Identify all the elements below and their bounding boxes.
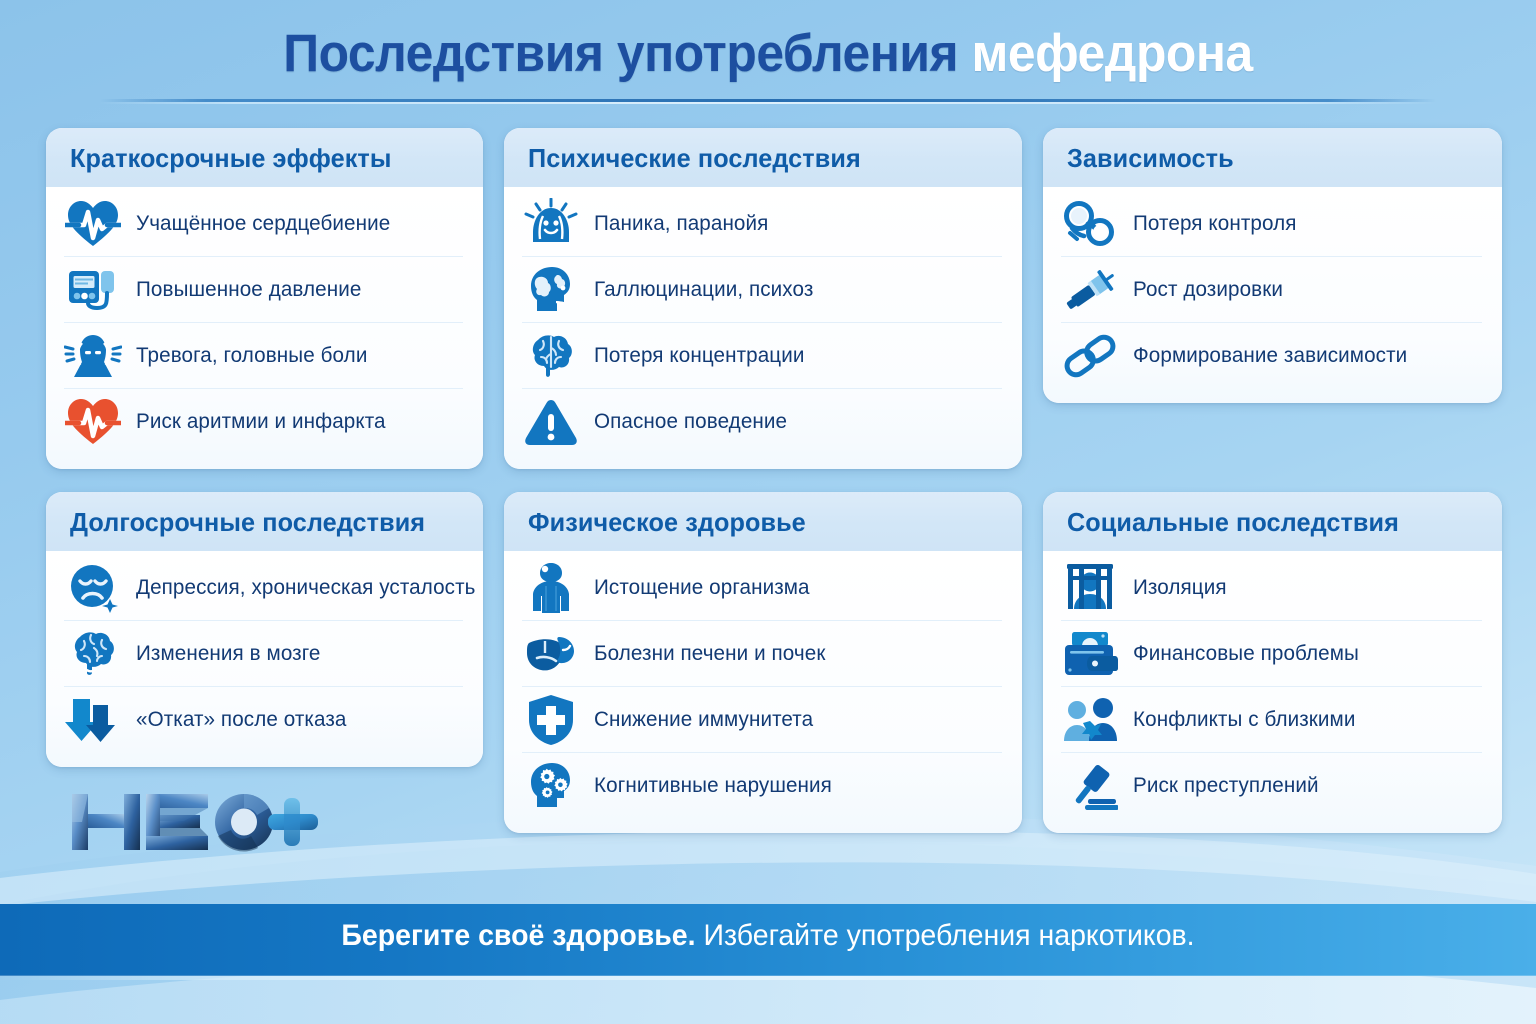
warning-triangle-icon [522,393,580,451]
card-body: Депрессия, хроническая усталость Изменен… [46,551,483,767]
list-item[interactable]: Изоляция [1061,555,1482,621]
page-title-light: мефедрона [971,24,1252,83]
list-item-label: Финансовые проблемы [1133,641,1359,667]
card-header: Социальные последствия [1043,492,1502,551]
list-item-label: Тревога, головные боли [136,343,367,369]
panic-ghost-icon [522,195,580,253]
card-title: Психические последствия [528,143,861,174]
list-item[interactable]: Депрессия, хроническая усталость [64,555,463,621]
list-item-label: Учащённое сердцебиение [136,211,390,237]
shield-cross-icon [522,691,580,749]
card-title: Социальные последствия [1067,507,1399,538]
prison-bars-icon [1061,559,1119,617]
list-item-label: Галлюцинации, психоз [594,277,813,303]
thin-person-icon [522,559,580,617]
list-item-label: Риск преступлений [1133,773,1319,799]
card-body: Изоляция [1043,551,1502,833]
list-item[interactable]: Рост дозировки [1061,257,1482,323]
card-title: Краткосрочные эффекты [70,143,392,174]
conflict-people-icon [1061,691,1119,749]
gavel-icon [1061,757,1119,815]
footer-message: Берегите своё здоровье. Избегайте употре… [38,915,1497,957]
list-item[interactable]: Учащённое сердцебиение [64,191,463,257]
list-item-label: Когнитивные нарушения [594,773,832,799]
list-item[interactable]: Риск преступлений [1061,753,1482,819]
heart-pulse-icon [64,195,122,253]
blood-pressure-monitor-icon [64,261,122,319]
chain-link-icon [1061,327,1119,385]
down-arrows-icon [64,691,122,749]
page-title: Последствия употребления мефедрона [0,24,1536,83]
list-item-label: Истощение организма [594,575,810,601]
brand-logo-neo-plus [68,788,336,856]
card-header: Долгосрочные последствия [46,492,483,551]
list-item-label: Опасное поведение [594,409,787,435]
sad-face-icon [64,559,122,617]
footer-regular-text: Избегайте употребления наркотиков. [696,919,1195,952]
card-header: Психические последствия [504,128,1022,187]
list-item[interactable]: «Откат» после отказа [64,687,463,753]
footer-bold-text: Берегите своё здоровье. [341,919,695,952]
card-physical-health: Физическое здоровье Истощение организма [504,492,1022,833]
list-item-label: «Откат» после отказа [136,707,346,733]
brain-icon [522,327,580,385]
title-divider [100,99,1436,102]
list-item[interactable]: Болезни печени и почек [522,621,1002,687]
list-item[interactable]: Формирование зависимости [1061,323,1482,389]
card-title: Долгосрочные последствия [70,507,425,538]
card-dependence: Зависимость П [1043,128,1502,403]
card-header: Зависимость [1043,128,1502,187]
card-mental-consequences: Психические последствия [504,128,1022,469]
card-title: Зависимость [1067,143,1234,174]
wallet-icon [1061,625,1119,683]
page-title-dark: Последствия употребления [283,24,971,83]
list-item-label: Депрессия, хроническая усталость [136,575,476,601]
list-item[interactable]: Риск аритмии и инфаркта [64,389,463,455]
list-item-label: Снижение иммунитета [594,707,813,733]
card-title: Физическое здоровье [528,507,806,538]
card-body: Истощение организма Болезни печени и поч… [504,551,1022,833]
head-gears-icon [522,757,580,815]
syringe-icon [1061,261,1119,319]
headache-person-icon [64,327,122,385]
brain-change-icon [64,625,122,683]
list-item-label: Паника, паранойя [594,211,768,237]
list-item[interactable]: Когнитивные нарушения [522,753,1002,819]
list-item[interactable]: Конфликты с близкими [1061,687,1482,753]
list-item-label: Изменения в мозге [136,641,320,667]
cards-grid: Краткосрочные эффекты Учащённое сердцеби… [46,128,1490,833]
list-item-label: Рост дозировки [1133,277,1283,303]
list-item-label: Потеря концентрации [594,343,804,369]
card-short-term-effects: Краткосрочные эффекты Учащённое сердцеби… [46,128,483,469]
card-body: Учащённое сердцебиение [46,187,483,469]
card-long-term-consequences: Долгосрочные последствия Депрессия, хрон… [46,492,483,767]
card-body: Паника, паранойя Галлюцинации, психоз [504,187,1022,469]
list-item[interactable]: Опасное поведение [522,389,1002,455]
handcuffs-icon [1061,195,1119,253]
card-body: Потеря контроля [1043,187,1502,403]
list-item-label: Потеря контроля [1133,211,1296,237]
heart-attack-icon [64,393,122,451]
infographic-poster: Последствия употребления мефедрона Кратк… [0,0,1536,1024]
list-item[interactable]: Финансовые проблемы [1061,621,1482,687]
card-header: Краткосрочные эффекты [46,128,483,187]
liver-kidney-icon [522,625,580,683]
list-item-label: Формирование зависимости [1133,343,1407,369]
list-item-label: Изоляция [1133,575,1227,601]
head-hallucination-icon [522,261,580,319]
list-item-label: Повышенное давление [136,277,361,303]
list-item[interactable]: Галлюцинации, психоз [522,257,1002,323]
list-item[interactable]: Тревога, головные боли [64,323,463,389]
list-item[interactable]: Снижение иммунитета [522,687,1002,753]
card-header: Физическое здоровье [504,492,1022,551]
list-item[interactable]: Потеря концентрации [522,323,1002,389]
list-item[interactable]: Повышенное давление [64,257,463,323]
list-item-label: Конфликты с близкими [1133,707,1355,733]
list-item-label: Риск аритмии и инфаркта [136,409,386,435]
list-item[interactable]: Истощение организма [522,555,1002,621]
list-item[interactable]: Изменения в мозге [64,621,463,687]
card-social-consequences: Социальные последствия [1043,492,1502,833]
list-item[interactable]: Паника, паранойя [522,191,1002,257]
list-item-label: Болезни печени и почек [594,641,825,667]
list-item[interactable]: Потеря контроля [1061,191,1482,257]
